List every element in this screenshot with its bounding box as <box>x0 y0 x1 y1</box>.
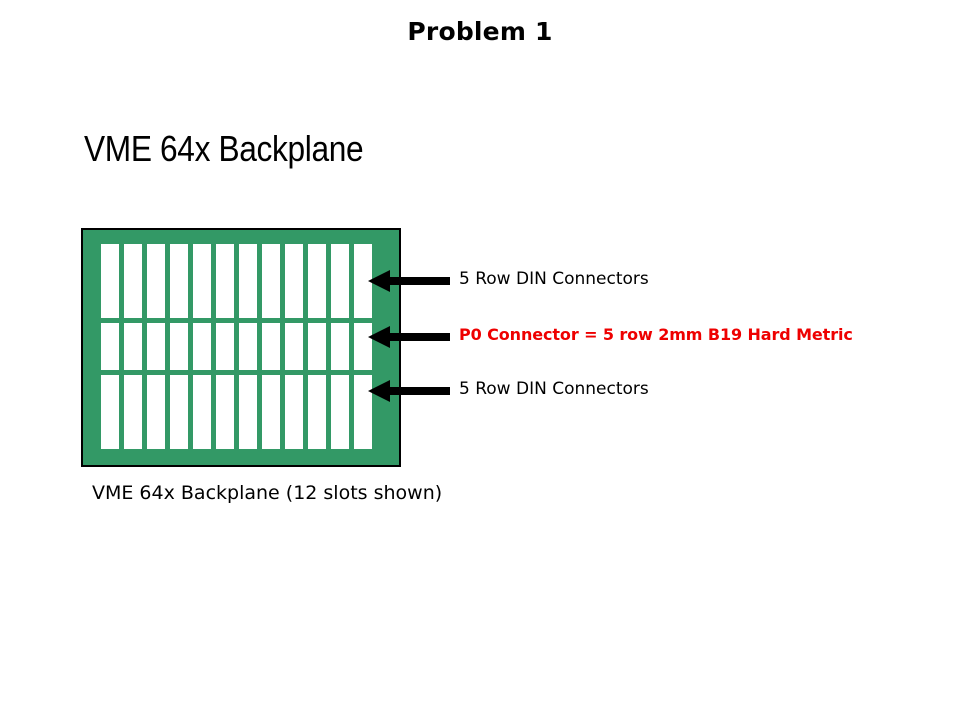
connector-slot <box>124 244 142 318</box>
page-title: VME 64x Backplane <box>84 128 363 170</box>
connector-slot <box>308 244 326 318</box>
connector-slot <box>101 375 119 449</box>
connector-slot <box>262 375 280 449</box>
connector-slot <box>101 244 119 318</box>
connector-slot <box>216 244 234 318</box>
connector-row-p0 <box>101 323 377 370</box>
board-caption: VME 64x Backplane (12 slots shown) <box>92 482 442 504</box>
left-arrow-icon <box>366 378 450 404</box>
connector-slot <box>216 323 234 370</box>
connector-slot <box>239 244 257 318</box>
connector-row-upper-din <box>101 244 377 318</box>
connector-slot <box>285 323 303 370</box>
connector-slot <box>170 375 188 449</box>
connector-slot <box>170 244 188 318</box>
annotation-label-upper-din: 5 Row DIN Connectors <box>459 269 649 289</box>
connector-slot <box>124 375 142 449</box>
connector-slot <box>193 244 211 318</box>
connector-slot <box>193 375 211 449</box>
connector-slot <box>331 323 349 370</box>
connector-slot <box>101 323 119 370</box>
backplane-board <box>81 228 401 467</box>
connector-slot <box>239 375 257 449</box>
connector-slot <box>331 375 349 449</box>
connector-slot <box>147 323 165 370</box>
connector-slot <box>147 244 165 318</box>
connector-slot <box>216 375 234 449</box>
connector-slot <box>285 244 303 318</box>
connector-slot <box>170 323 188 370</box>
left-arrow-icon <box>366 268 450 294</box>
connector-slot <box>308 323 326 370</box>
connector-slot <box>239 323 257 370</box>
connector-slot <box>124 323 142 370</box>
connector-slot <box>308 375 326 449</box>
slide-title: Problem 1 <box>0 17 960 46</box>
annotation-label-p0-connector: P0 Connector = 5 row 2mm B19 Hard Metric <box>459 325 853 344</box>
left-arrow-icon <box>366 324 450 350</box>
connector-slot <box>147 375 165 449</box>
connector-slot <box>262 323 280 370</box>
connector-slot <box>331 244 349 318</box>
connector-slot <box>262 244 280 318</box>
connector-slot <box>193 323 211 370</box>
connector-slot <box>285 375 303 449</box>
connector-row-lower-din <box>101 375 377 449</box>
annotation-label-lower-din: 5 Row DIN Connectors <box>459 379 649 399</box>
